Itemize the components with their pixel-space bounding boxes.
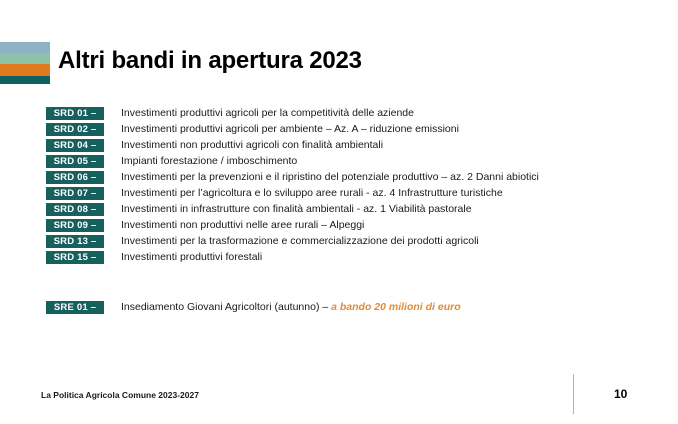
measure-description: Investimenti non produttivi agricoli con… [121,139,383,152]
list-item: SRD 04 – Investimenti non produttivi agr… [46,137,656,153]
measure-code-badge: SRD 07 – [46,187,104,200]
footer-divider [573,374,574,414]
measure-description: Investimenti per la prevenzioni e il rip… [121,171,539,184]
measure-code-badge: SRD 13 – [46,235,104,248]
list-item: SRD 05 – Impianti forestazione / imbosch… [46,153,656,169]
measure-code-badge: SRD 09 – [46,219,104,232]
measure-description: Investimenti produttivi agricoli per la … [121,107,414,120]
slide-header: Altri bandi in apertura 2023 [0,42,678,86]
measure-description: Insediamento Giovani Agricoltori (autunn… [121,301,461,314]
page-number: 10 [614,387,627,401]
list-item: SRD 15 – Investimenti produttivi foresta… [46,249,656,265]
colorbar-band-orange [0,64,50,76]
page-title: Altri bandi in apertura 2023 [58,42,362,80]
list-item: SRD 01 – Investimenti produttivi agricol… [46,105,656,121]
colorbar-band-blue [0,42,50,53]
list-item: SRD 09 – Investimenti non produttivi nel… [46,217,656,233]
measure-code-badge: SRD 15 – [46,251,104,264]
measure-description-highlight: a bando 20 milioni di euro [331,301,461,313]
list-item: SRE 01 – Insediamento Giovani Agricoltor… [46,299,656,315]
measure-description: Investimenti non produttivi nelle aree r… [121,219,364,232]
measure-code-badge: SRD 08 – [46,203,104,216]
measure-description: Impianti forestazione / imboschimento [121,155,297,168]
footer-caption: La Politica Agricola Comune 2023-2027 [41,390,199,400]
measure-description-plain: Insediamento Giovani Agricoltori (autunn… [121,301,331,313]
list-item: SRD 13 – Investimenti per la trasformazi… [46,233,656,249]
measure-code-badge: SRE 01 – [46,301,104,314]
measure-code-badge: SRD 06 – [46,171,104,184]
measure-code-badge: SRD 05 – [46,155,104,168]
measure-code-badge: SRD 04 – [46,139,104,152]
list-item: SRD 08 – Investimenti in infrastrutture … [46,201,656,217]
measure-code-badge: SRD 02 – [46,123,104,136]
measure-code-badge: SRD 01 – [46,107,104,120]
measure-description: Investimenti in infrastrutture con final… [121,203,472,216]
list-item: SRD 02 – Investimenti produttivi agricol… [46,121,656,137]
list-item: SRD 07 – Investimenti per l’agricoltura … [46,185,656,201]
sre-group: SRE 01 – Insediamento Giovani Agricoltor… [46,299,656,315]
measure-description: Investimenti per l’agricoltura e lo svil… [121,187,503,200]
measure-list: SRD 01 – Investimenti produttivi agricol… [46,105,656,265]
brand-colorbar-logo [0,42,50,84]
list-item: SRD 06 – Investimenti per la prevenzioni… [46,169,656,185]
measure-description: Investimenti produttivi forestali [121,251,262,264]
colorbar-band-green [0,53,50,64]
slide-footer: La Politica Agricola Comune 2023-2027 10 [0,364,678,424]
measure-description: Investimenti per la trasformazione e com… [121,235,479,248]
measure-description: Investimenti produttivi agricoli per amb… [121,123,459,136]
colorbar-band-teal [0,76,50,84]
